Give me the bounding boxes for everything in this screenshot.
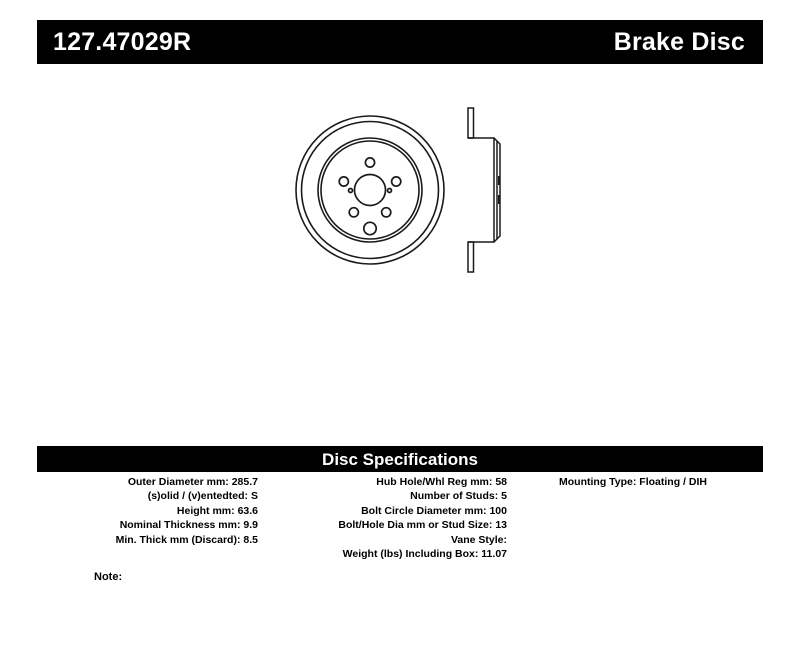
spec-row: Bolt Circle Diameter mm: 100 [262,504,517,518]
spec-value: 8.5 [243,534,258,546]
spec-row: (s)olid / (v)entedted: S [37,489,262,503]
spec-label: Number of Studs: [410,490,498,502]
spec-value: 100 [489,505,507,517]
brake-rotor-front-view [280,100,460,285]
spec-value: 11.07 [481,548,507,560]
spec-row: Height mm: 63.6 [37,504,262,518]
spec-label: Outer Diameter mm: [128,476,229,488]
spec-column-middle: Hub Hole/Whl Reg mm: 58 Number of Studs:… [262,475,517,561]
disc-specifications-header: Disc Specifications [37,446,763,472]
spec-label: Height mm: [177,505,235,517]
rotor-front-svg [280,100,460,280]
disc-specifications-title: Disc Specifications [322,451,478,468]
spec-value: 285.7 [232,476,258,488]
spec-row: Vane Style: [262,533,517,547]
spec-row: Weight (lbs) Including Box: 11.07 [262,547,517,561]
spec-column-left: Outer Diameter mm: 285.7 (s)olid / (v)en… [37,475,262,547]
header-banner: 127.47029R Brake Disc [37,20,763,64]
part-number: 127.47029R [53,30,191,55]
product-title: Brake Disc [614,30,745,55]
technical-drawing-area [37,80,763,430]
spec-value: 13 [495,519,507,531]
note-block: Note: [37,570,437,584]
spec-row: Nominal Thickness mm: 9.9 [37,518,262,532]
disc-specifications-body: Outer Diameter mm: 285.7 (s)olid / (v)en… [37,475,763,561]
spec-label: Mounting Type: [559,476,636,488]
spec-label: Bolt/Hole Dia mm or Stud Size: [338,519,492,531]
spec-value: 63.6 [238,505,258,517]
spec-label: Weight (lbs) Including Box: [343,548,479,560]
spec-value: 5 [501,490,507,502]
spec-value: 9.9 [243,519,258,531]
spec-row: Bolt/Hole Dia mm or Stud Size: 13 [262,518,517,532]
spec-label: Hub Hole/Whl Reg mm: [376,476,492,488]
rotor-side-svg [456,100,520,280]
spec-label: (s)olid / (v)entedted: [148,490,248,502]
spec-row: Outer Diameter mm: 285.7 [37,475,262,489]
spec-value: S [251,490,258,502]
spec-row: Hub Hole/Whl Reg mm: 58 [262,475,517,489]
spec-value: 58 [495,476,507,488]
spec-row: Mounting Type: Floating / DIH [517,475,763,489]
spec-label: Bolt Circle Diameter mm: [361,505,486,517]
note-label: Note: [94,571,122,583]
spec-label: Vane Style: [451,534,507,546]
spec-row: Min. Thick mm (Discard): 8.5 [37,533,262,547]
spec-row: Number of Studs: 5 [262,489,517,503]
spec-column-right: Mounting Type: Floating / DIH [517,475,763,489]
spec-label: Min. Thick mm (Discard): [116,534,241,546]
spec-value: Floating / DIH [639,476,707,488]
brake-rotor-side-profile-view [456,100,520,285]
spec-label: Nominal Thickness mm: [120,519,241,531]
